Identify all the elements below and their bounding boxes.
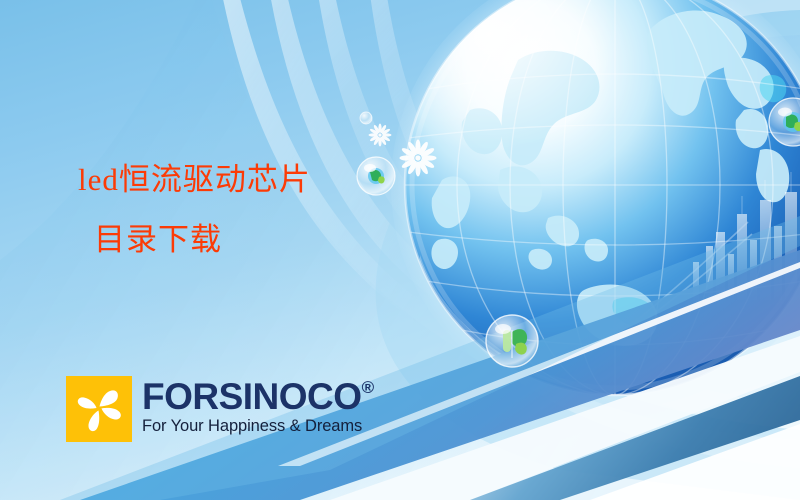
- globe-inner-rim: [412, 0, 800, 388]
- blue-globe: [380, 0, 800, 409]
- globe-halo: [391, 0, 800, 409]
- globe-swirl-group: [376, 0, 800, 500]
- globe-rim: [405, 0, 800, 395]
- bubble-globe-small: [357, 157, 395, 195]
- ribbon-white-band: [330, 336, 800, 500]
- globe-meridians: [457, 0, 773, 395]
- registered-trademark-symbol: ®: [362, 379, 374, 396]
- globe-rim-light: [418, 255, 586, 390]
- bubble-leaf: [486, 315, 538, 367]
- continents: [431, 10, 789, 345]
- overlay-headline-line-2: 目录下载: [94, 218, 311, 262]
- logo-name-text: FORSINOCO: [142, 378, 362, 415]
- city-skyline: [632, 172, 797, 330]
- bubble-group: [357, 98, 800, 367]
- globe-surface: [380, 0, 800, 395]
- coastline-accents: [612, 75, 786, 326]
- logo-wordmark: FORSINOCO ® For Your Happiness & Dreams: [142, 376, 374, 435]
- bubble-tiny: [360, 112, 372, 124]
- ribbon-white-corner: [590, 424, 800, 500]
- starburst-small: [369, 124, 392, 147]
- ribbon-blue-upper: [80, 250, 800, 500]
- overlay-headline: led恒流驱动芯片 目录下载: [78, 158, 311, 262]
- globe-swirl-outer: [376, 0, 800, 500]
- globe-gloss: [380, 0, 700, 258]
- pinwheel-flower-icon: [66, 376, 132, 442]
- globe-parallels: [405, 74, 800, 345]
- ribbon-steel-band: [470, 376, 800, 500]
- logo-mark-icon: [66, 376, 132, 442]
- globe-sphere: [405, 0, 800, 395]
- upper-left-arc-3: [318, 0, 512, 306]
- forsinoco-logo[interactable]: FORSINOCO ® For Your Happiness & Dreams: [66, 376, 374, 442]
- upper-left-arc-4: [370, 0, 540, 294]
- globe-swirl-lower: [440, 170, 800, 468]
- overlay-headline-line-1: led恒流驱动芯片: [78, 158, 311, 202]
- logo-name-row: FORSINOCO ®: [142, 378, 374, 415]
- promo-banner: led恒流驱动芯片 目录下载 FORSINOCO ® For Your Happ…: [0, 0, 800, 500]
- globe-swirl-highlight: [495, 0, 800, 430]
- bubble-edge-right: [769, 98, 800, 146]
- starburst-large: [400, 140, 437, 177]
- logo-tagline: For Your Happiness & Dreams: [142, 418, 374, 435]
- starburst-group: [369, 124, 437, 177]
